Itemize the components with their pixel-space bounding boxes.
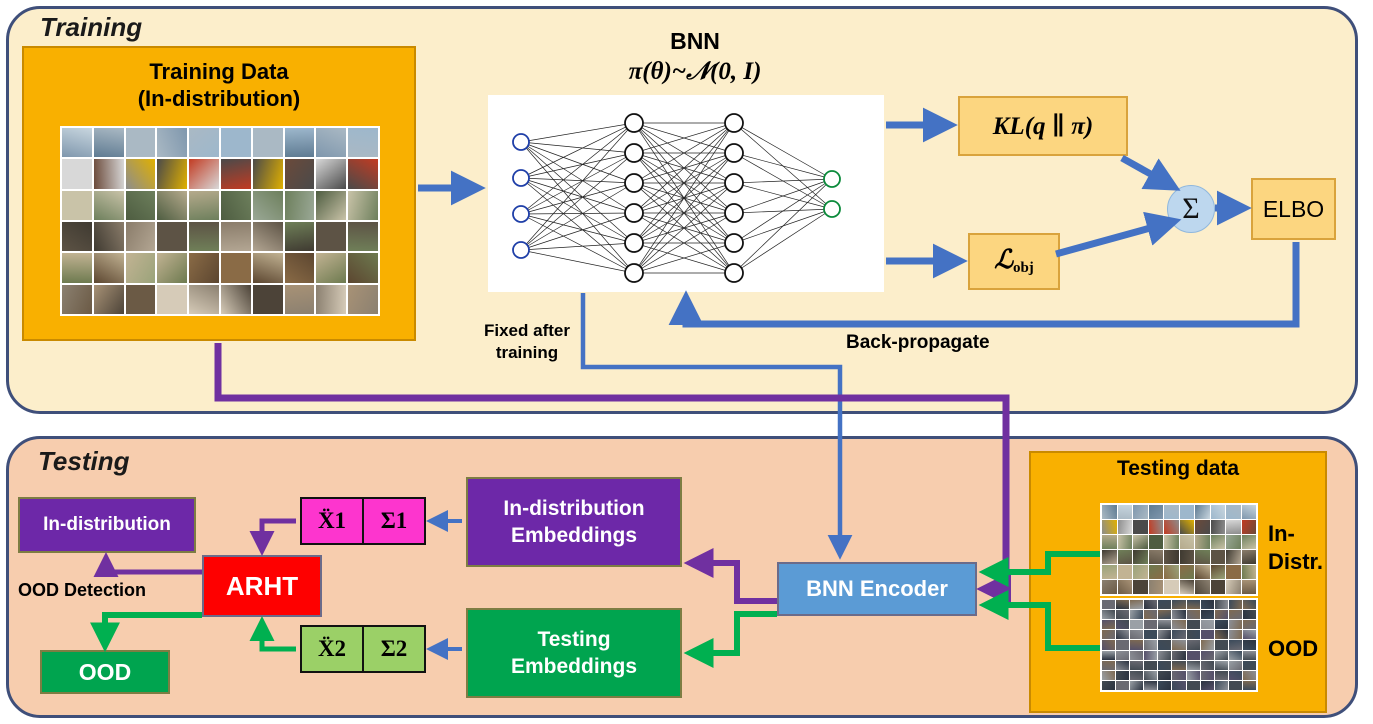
training-data-title: Training Data (In-distribution): [22, 58, 416, 112]
objective-loss-box: ℒobj: [968, 233, 1060, 290]
fixed-after-training-label: Fixed after training: [477, 320, 577, 364]
in-distribution-statistics-box: Ẍ1 Σ1: [300, 497, 426, 545]
back-propagate-label: Back-propagate: [846, 332, 990, 354]
bnn-encoder-box: BNN Encoder: [777, 562, 977, 616]
testing-data-in-distribution-grid: [1100, 503, 1258, 596]
stat2-cov: Σ2: [362, 627, 424, 671]
lobj-subscript: obj: [1013, 261, 1034, 277]
fixed-label-line1: Fixed after: [477, 320, 577, 342]
in-distr-label-line1: In-: [1268, 520, 1323, 548]
testing-data-ood-grid: [1100, 598, 1258, 692]
stat1-mean: Ẍ1: [302, 499, 362, 543]
training-data-title-line1: Training Data: [22, 58, 416, 85]
training-data-title-line2: (In-distribution): [22, 85, 416, 112]
in-dist-embeddings-line1: In-distribution: [503, 495, 644, 522]
testing-panel-title: Testing: [38, 446, 129, 477]
training-data-image-grid: [60, 126, 380, 316]
fixed-label-line2: training: [477, 342, 577, 364]
ood-result-box: OOD: [40, 650, 170, 694]
testing-statistics-box: Ẍ2 Σ2: [300, 625, 426, 673]
testing-data-ood-label: OOD: [1268, 636, 1318, 662]
testing-embeddings-line2: Embeddings: [511, 653, 637, 680]
bnn-network-box: [488, 95, 884, 292]
kl-label: KL(q ∥ π): [993, 111, 1093, 141]
lobj-script-l: ℒ: [994, 245, 1013, 274]
in-distribution-embeddings-box: In-distribution Embeddings: [466, 477, 682, 567]
stat1-cov: Σ1: [362, 499, 424, 543]
testing-data-title: Testing data: [1029, 457, 1327, 481]
arht-box: ARHT: [202, 555, 322, 617]
in-distribution-result-box: In-distribution: [18, 497, 196, 553]
testing-data-in-distr-label: In- Distr.: [1268, 520, 1323, 576]
kl-divergence-box: KL(q ∥ π): [958, 96, 1128, 156]
bnn-network-graph: [488, 95, 884, 292]
training-panel-title: Training: [40, 12, 142, 43]
testing-embeddings-line1: Testing: [537, 626, 610, 653]
objective-loss-label: ℒobj: [994, 245, 1034, 277]
sum-node: Σ: [1167, 185, 1215, 233]
stat2-mean: Ẍ2: [302, 627, 362, 671]
bnn-prior-formula: π(θ)~𝒩(0, I): [500, 58, 890, 86]
in-distr-label-line2: Distr.: [1268, 548, 1323, 576]
testing-embeddings-box: Testing Embeddings: [466, 608, 682, 698]
bnn-title: BNN: [500, 28, 890, 55]
in-dist-embeddings-line2: Embeddings: [511, 522, 637, 549]
elbo-box: ELBO: [1251, 178, 1336, 240]
ood-detection-label: OOD Detection: [18, 580, 146, 601]
